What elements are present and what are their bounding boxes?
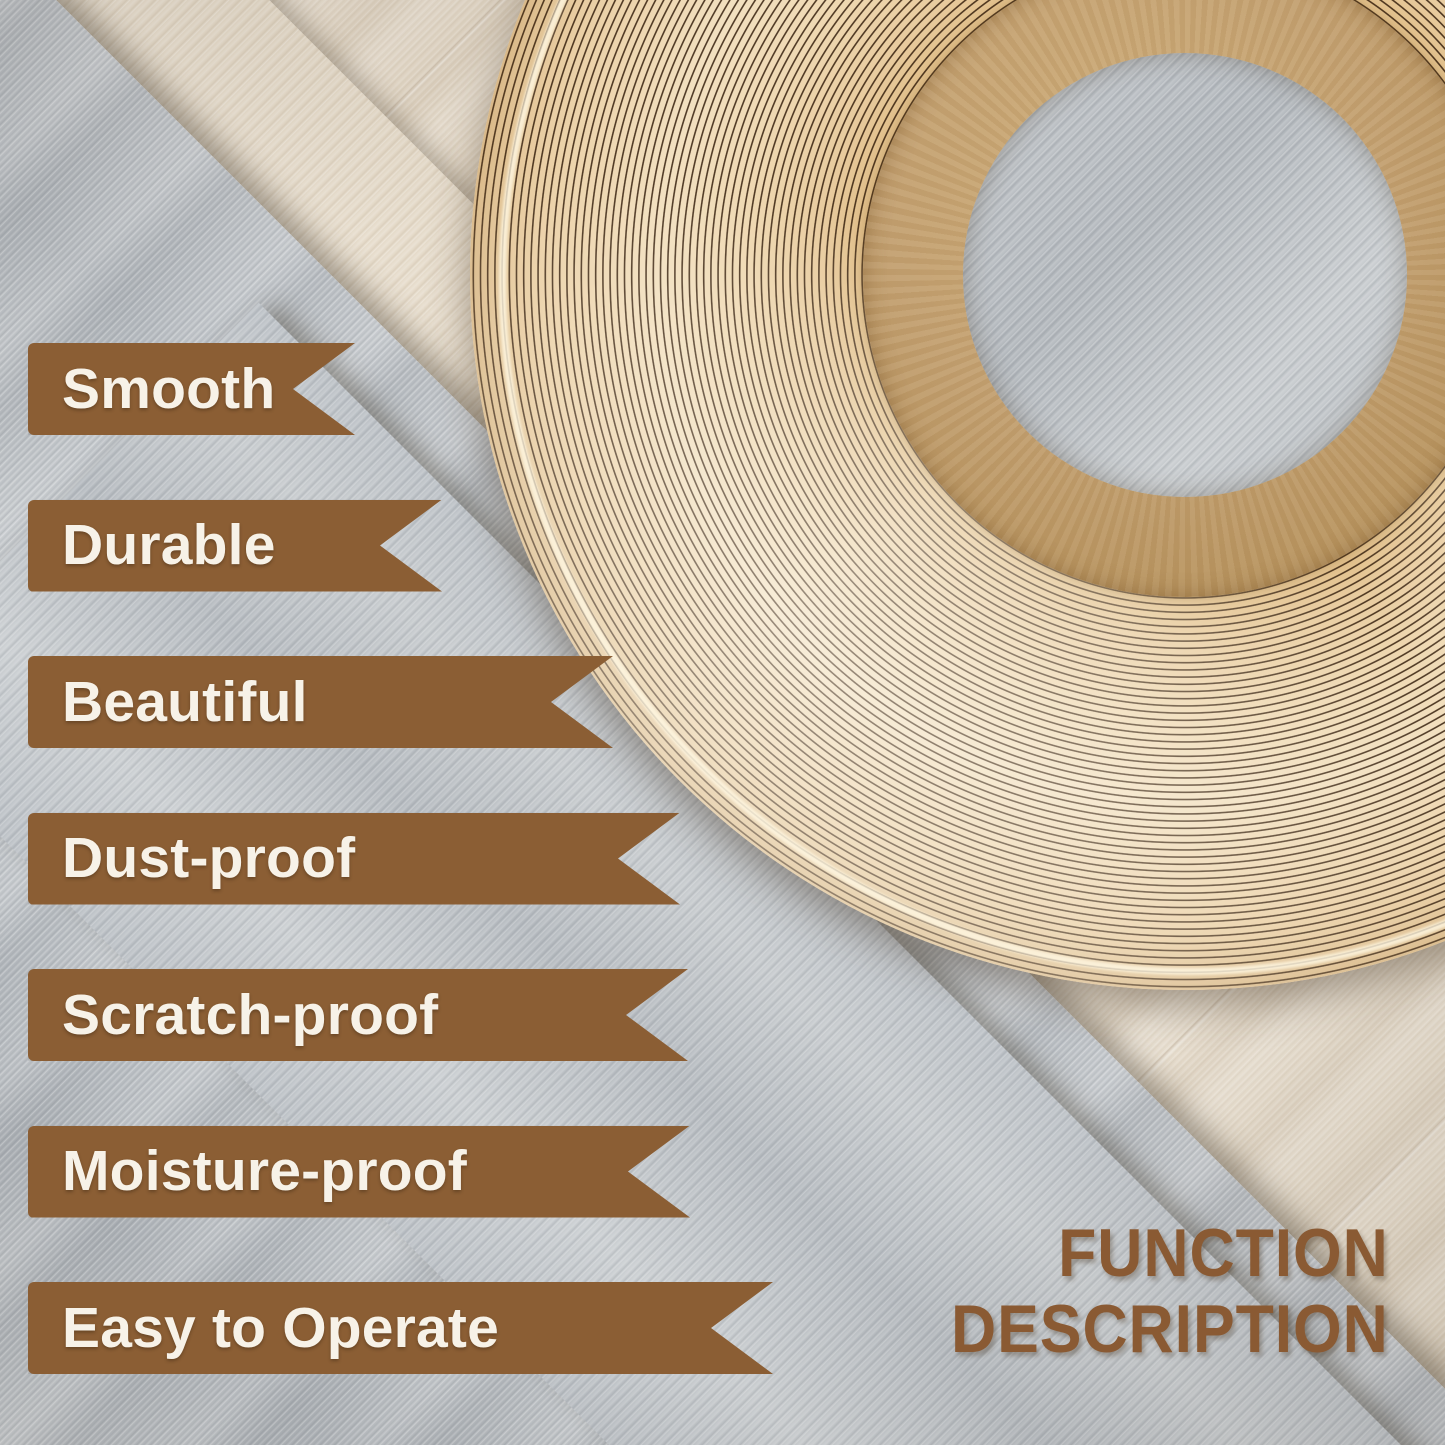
- feature-banner-label: Durable: [62, 517, 276, 574]
- page-title-line-1: FUNCTION: [951, 1215, 1389, 1291]
- page-title: FUNCTION DESCRIPTION: [951, 1215, 1389, 1367]
- feature-banner-label: Moisture-proof: [62, 1143, 467, 1200]
- feature-banner: Beautiful: [28, 656, 613, 748]
- feature-banner: Dust-proof: [28, 813, 680, 905]
- feature-banner-label: Smooth: [62, 361, 275, 418]
- feature-banner-label: Scratch-proof: [62, 987, 438, 1044]
- feature-banner: Durable: [28, 500, 442, 592]
- feature-banner-label: Beautiful: [62, 674, 308, 731]
- feature-banner-label: Dust-proof: [62, 830, 355, 887]
- feature-banner: Easy to Operate: [28, 1282, 773, 1374]
- feature-banner-label: Easy to Operate: [62, 1300, 499, 1357]
- feature-banner: Scratch-proof: [28, 969, 688, 1061]
- feature-banner: Smooth: [28, 343, 355, 435]
- page-title-line-2: DESCRIPTION: [951, 1291, 1389, 1367]
- feature-banner: Moisture-proof: [28, 1126, 690, 1218]
- product-feature-graphic: SmoothDurableBeautifulDust-proofScratch-…: [0, 0, 1445, 1445]
